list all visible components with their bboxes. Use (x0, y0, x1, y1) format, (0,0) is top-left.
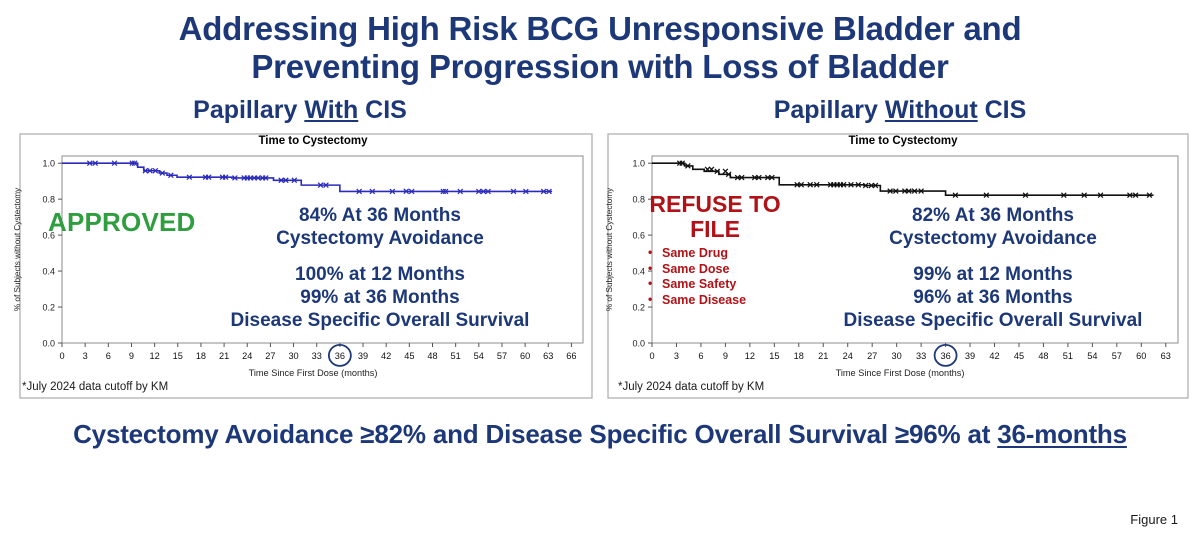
summary-part-2: and (433, 419, 486, 449)
page-title-line-1: Addressing High Risk BCG Unresponsive Bl… (0, 10, 1200, 48)
svg-text:1.0: 1.0 (632, 159, 645, 169)
svg-text:33: 33 (312, 351, 322, 361)
svg-text:0: 0 (59, 351, 64, 361)
svg-left-title: Time to Cystectomy (258, 135, 368, 147)
panel-papillary-without-cis: Papillary Without CIS Time to Cystectomy… (600, 96, 1200, 405)
svg-text:3: 3 (674, 351, 679, 361)
svg-text:18: 18 (794, 351, 804, 361)
svg-right-ylabel: % of Subjects without Cystectomy (605, 187, 614, 311)
svg-text:0.0: 0.0 (42, 338, 55, 348)
svg-text:33: 33 (916, 351, 926, 361)
panel-right-subtitle-post: CIS (978, 96, 1027, 124)
right-km-chart: Time to Cystectomy0.00.20.40.60.81.0% of… (600, 130, 1200, 405)
svg-text:51: 51 (1063, 351, 1073, 361)
svg-left-xlabel: Time Since First Dose (months) (249, 368, 378, 378)
svg-text:48: 48 (427, 351, 437, 361)
panels-container: Papillary With CIS Time to Cystectomy0.0… (0, 96, 1200, 405)
svg-text:42: 42 (381, 351, 391, 361)
right-footnote: *July 2024 data cutoff by KM (618, 381, 764, 393)
svg-text:0.4: 0.4 (632, 266, 645, 276)
summary-part-1: Cystectomy Avoidance ≥82% (73, 419, 433, 449)
svg-text:15: 15 (173, 351, 183, 361)
panel-left-subtitle: Papillary With CIS (0, 96, 600, 124)
panel-right-subtitle-pre: Papillary (774, 96, 885, 124)
svg-text:57: 57 (1112, 351, 1122, 361)
svg-right-step-line (652, 163, 1154, 195)
svg-text:39: 39 (965, 351, 975, 361)
svg-text:3: 3 (83, 351, 88, 361)
svg-right-censor-marks (677, 161, 1152, 198)
svg-text:36: 36 (335, 351, 345, 361)
svg-text:39: 39 (358, 351, 368, 361)
panel-left-subtitle-underlined: With (304, 96, 358, 124)
svg-text:0.8: 0.8 (632, 195, 645, 205)
svg-text:63: 63 (543, 351, 553, 361)
svg-text:12: 12 (150, 351, 160, 361)
left-footnote: *July 2024 data cutoff by KM (22, 381, 168, 393)
svg-text:6: 6 (106, 351, 111, 361)
svg-text:21: 21 (818, 351, 828, 361)
page-title: Addressing High Risk BCG Unresponsive Bl… (0, 0, 1200, 86)
svg-text:54: 54 (474, 351, 484, 361)
summary-conclusion: Cystectomy Avoidance ≥82% and Disease Sp… (0, 419, 1200, 450)
svg-text:24: 24 (843, 351, 853, 361)
svg-text:15: 15 (769, 351, 779, 361)
svg-text:45: 45 (404, 351, 414, 361)
svg-text:0.4: 0.4 (42, 266, 55, 276)
svg-text:0.8: 0.8 (42, 195, 55, 205)
svg-text:45: 45 (1014, 351, 1024, 361)
svg-left-step-line (62, 163, 552, 191)
svg-text:9: 9 (129, 351, 134, 361)
right-chart-card: Time to Cystectomy0.00.20.40.60.81.0% of… (600, 130, 1200, 405)
svg-text:12: 12 (745, 351, 755, 361)
panel-right-subtitle: Papillary Without CIS (600, 96, 1200, 124)
left-km-chart: Time to Cystectomy0.00.20.40.60.81.0% of… (0, 130, 600, 405)
svg-text:36: 36 (940, 351, 950, 361)
svg-text:51: 51 (451, 351, 461, 361)
svg-text:6: 6 (698, 351, 703, 361)
svg-text:54: 54 (1087, 351, 1097, 361)
svg-text:1.0: 1.0 (42, 159, 55, 169)
svg-text:0: 0 (649, 351, 654, 361)
figure-label: Figure 1 (1130, 512, 1178, 527)
panel-left-subtitle-pre: Papillary (193, 96, 304, 124)
panel-right-subtitle-underlined: Without (885, 96, 978, 124)
svg-text:30: 30 (892, 351, 902, 361)
left-chart-card: Time to Cystectomy0.00.20.40.60.81.0% of… (0, 130, 600, 405)
svg-text:21: 21 (219, 351, 229, 361)
svg-text:30: 30 (288, 351, 298, 361)
svg-text:48: 48 (1038, 351, 1048, 361)
svg-right-xlabel: Time Since First Dose (months) (836, 368, 965, 378)
svg-text:0.6: 0.6 (42, 231, 55, 241)
panel-left-subtitle-post: CIS (358, 96, 407, 124)
svg-text:18: 18 (196, 351, 206, 361)
svg-text:57: 57 (497, 351, 507, 361)
summary-part-4-underlined: 36-months (997, 419, 1127, 449)
summary-part-3: Disease Specific Overall Survival ≥96% a… (486, 419, 998, 449)
svg-text:0.6: 0.6 (632, 231, 645, 241)
panel-papillary-with-cis: Papillary With CIS Time to Cystectomy0.0… (0, 96, 600, 405)
svg-text:60: 60 (520, 351, 530, 361)
svg-text:27: 27 (265, 351, 275, 361)
svg-text:66: 66 (566, 351, 576, 361)
svg-text:0.0: 0.0 (632, 338, 645, 348)
svg-text:0.2: 0.2 (632, 302, 645, 312)
slide-root: Addressing High Risk BCG Unresponsive Bl… (0, 0, 1200, 537)
svg-left-censor-marks (87, 161, 551, 194)
svg-text:27: 27 (867, 351, 877, 361)
svg-text:42: 42 (989, 351, 999, 361)
svg-text:24: 24 (242, 351, 252, 361)
page-title-line-2: Preventing Progression with Loss of Blad… (0, 48, 1200, 86)
svg-text:0.2: 0.2 (42, 302, 55, 312)
svg-text:60: 60 (1136, 351, 1146, 361)
svg-left-ylabel: % of Subjects without Cystectomy (13, 187, 22, 311)
svg-right-title: Time to Cystectomy (848, 135, 958, 147)
svg-text:63: 63 (1161, 351, 1171, 361)
svg-text:9: 9 (723, 351, 728, 361)
